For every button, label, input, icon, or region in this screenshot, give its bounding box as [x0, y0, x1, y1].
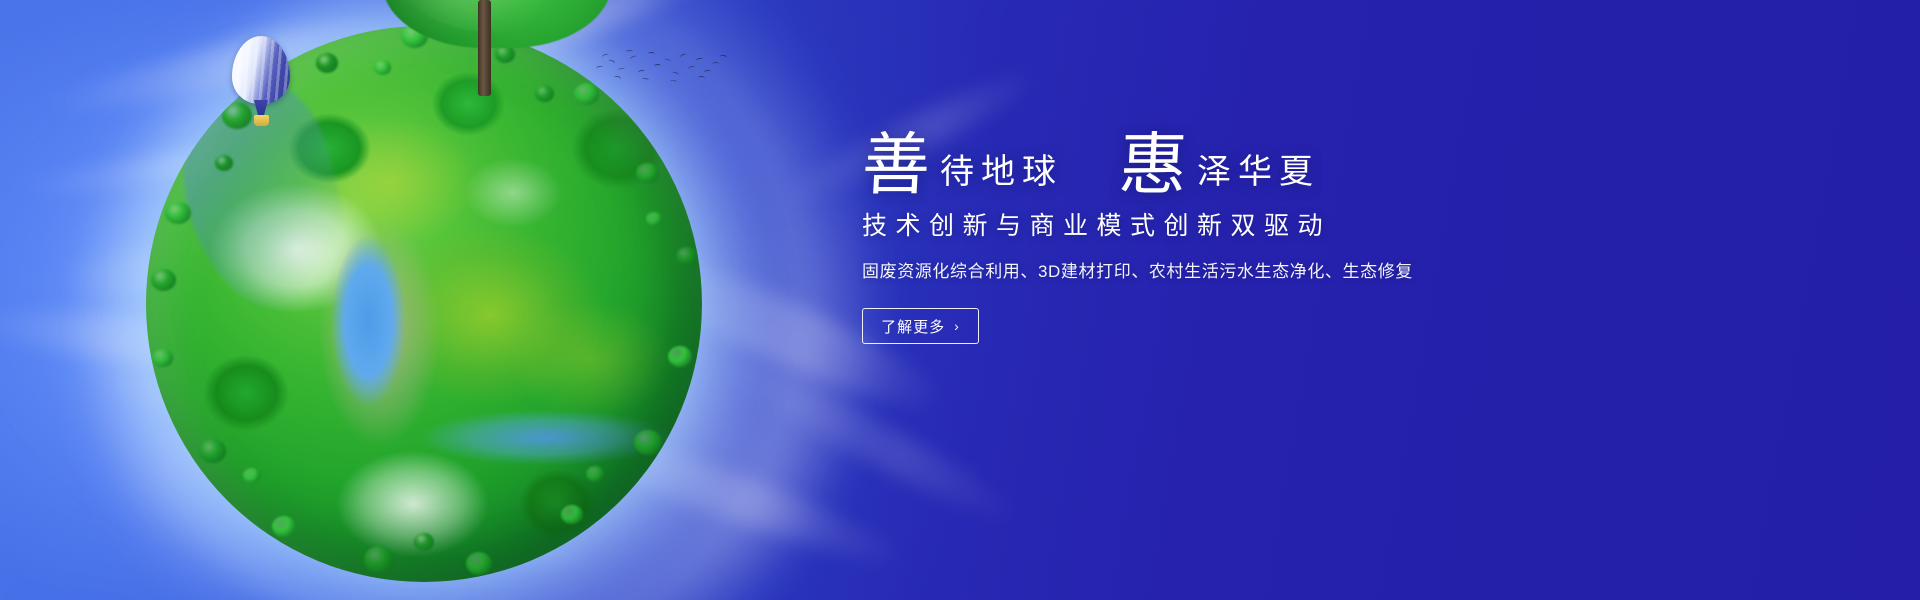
- tree-clump: [466, 552, 492, 575]
- globe-sphere: [146, 26, 702, 582]
- headline-char-1: 善: [860, 134, 931, 198]
- bird-icon: [672, 71, 680, 77]
- bird-icon: [696, 57, 704, 62]
- tree-clump: [151, 269, 176, 291]
- tree-clump: [374, 60, 391, 75]
- tree-clump: [646, 212, 662, 226]
- tree-clump: [634, 430, 662, 455]
- headline: 善 待地球 惠 泽华夏: [862, 134, 1622, 198]
- headline-part-1: 待地球: [930, 155, 1063, 198]
- tree-clump: [316, 53, 338, 72]
- tree-clump: [414, 533, 434, 551]
- tree-clump: [586, 466, 604, 482]
- bird-icon: [626, 50, 633, 54]
- globe: [146, 26, 702, 582]
- headline-part-2: 泽华夏: [1187, 155, 1320, 198]
- bird-icon: [614, 75, 622, 81]
- tree-clump: [243, 468, 260, 483]
- bird-icon: [596, 65, 604, 70]
- chevron-right-icon: ›: [954, 319, 960, 333]
- bird-icon: [654, 64, 661, 69]
- tree-clump: [668, 346, 692, 367]
- bird-icon: [698, 76, 705, 80]
- bird-icon: [720, 55, 727, 60]
- hot-air-balloon-icon: [232, 36, 290, 130]
- tree-clump: [152, 349, 173, 367]
- bird-icon: [679, 53, 687, 59]
- bird-icon: [602, 53, 610, 59]
- bird-icon: [670, 80, 677, 85]
- bird-icon: [664, 58, 672, 64]
- tree-clump: [165, 202, 191, 225]
- learn-more-label: 了解更多: [881, 316, 945, 337]
- bird-flock-icon: [594, 46, 724, 86]
- balloon-neck: [254, 100, 268, 116]
- tree-trunk-icon: [478, 0, 491, 96]
- bird-icon: [712, 62, 719, 66]
- learn-more-button[interactable]: 了解更多 ›: [862, 308, 979, 344]
- tree-clump: [561, 505, 583, 524]
- subtitle: 技术创新与商业模式创新双驱动: [862, 210, 1622, 243]
- tree-clump: [199, 439, 226, 463]
- bird-icon: [704, 70, 711, 75]
- balloon-envelope: [232, 36, 290, 104]
- headline-char-2: 惠: [1117, 134, 1188, 198]
- tree-clump: [636, 163, 659, 183]
- tree-clump: [535, 85, 554, 102]
- tree-clump: [215, 155, 233, 171]
- balloon-basket: [254, 115, 269, 126]
- description: 固废资源化综合利用、3D建材打印、农村生活污水生态净化、生态修复: [862, 260, 1622, 284]
- bird-icon: [629, 55, 637, 61]
- tree-clump: [272, 516, 296, 537]
- bird-icon: [688, 65, 696, 71]
- bird-icon: [642, 77, 650, 82]
- hero-content: 善 待地球 惠 泽华夏 技术创新与商业模式创新双驱动 固废资源化综合利用、3D建…: [862, 134, 1622, 344]
- tree-clump: [574, 83, 599, 105]
- bird-icon: [638, 69, 646, 75]
- bird-icon: [618, 68, 625, 73]
- tree-clump: [676, 247, 697, 265]
- bird-icon: [648, 52, 655, 56]
- tree-clump: [495, 45, 515, 63]
- tree-clump: [364, 546, 394, 572]
- hero-banner: 善 待地球 惠 泽华夏 技术创新与商业模式创新双驱动 固废资源化综合利用、3D建…: [0, 0, 1920, 600]
- bird-icon: [607, 59, 615, 65]
